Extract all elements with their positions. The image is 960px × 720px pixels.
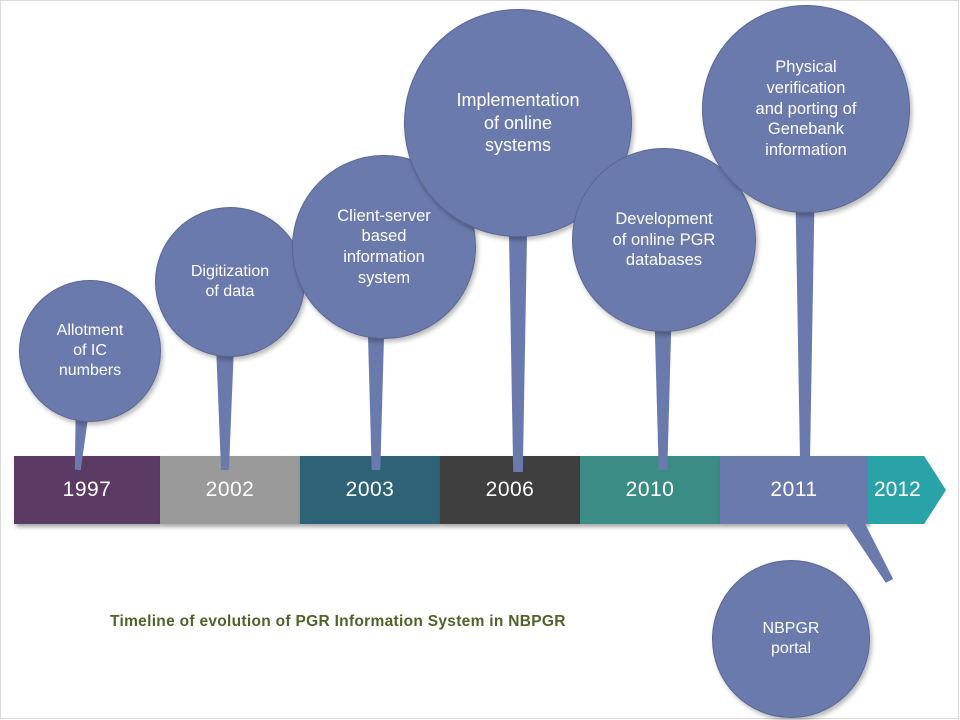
timeline-segment-1997[interactable]: 1997: [14, 456, 160, 524]
timeline-segment-2012[interactable]: 2012: [868, 456, 946, 524]
timeline-segment-2010[interactable]: 2010: [580, 456, 720, 524]
balloon-2010-text: Development of online PGR databases: [603, 209, 726, 271]
balloon-2006-text: Implementation of online systems: [446, 89, 589, 157]
timeline-year-2003: 2003: [346, 478, 395, 502]
timeline-segment-2003[interactable]: 2003: [300, 456, 440, 524]
balloon-1997[interactable]: Allotment of IC numbers: [19, 280, 161, 422]
timeline-year-2012: 2012: [874, 478, 921, 502]
timeline-year-2002: 2002: [206, 478, 255, 502]
balloon-2012[interactable]: NBPGR portal: [712, 560, 870, 718]
timeline-segment-2002[interactable]: 2002: [160, 456, 300, 524]
timeline-infographic: 1997 2002 2003 2006 2010 2011 2012 Allot…: [0, 0, 960, 720]
timeline-year-2010: 2010: [626, 478, 675, 502]
diagram-caption: Timeline of evolution of PGR Information…: [110, 613, 566, 631]
timeline-year-1997: 1997: [63, 478, 112, 502]
balloon-2012-text: NBPGR portal: [753, 619, 830, 659]
balloon-tail-2011: [795, 170, 815, 472]
balloon-1997-text: Allotment of IC numbers: [47, 321, 134, 381]
timeline-segment-2006[interactable]: 2006: [440, 456, 580, 524]
balloon-2003-text: Client-server based information system: [327, 206, 441, 289]
balloon-2011[interactable]: Physical verification and porting of Gen…: [702, 5, 910, 213]
balloon-2011-text: Physical verification and porting of Gen…: [746, 57, 867, 160]
timeline-year-2011: 2011: [770, 478, 817, 502]
balloon-2002[interactable]: Digitization of data: [155, 207, 305, 357]
balloon-2002-text: Digitization of data: [181, 262, 279, 302]
timeline-year-2006: 2006: [486, 478, 535, 502]
balloon-tail-2002: [216, 345, 234, 470]
